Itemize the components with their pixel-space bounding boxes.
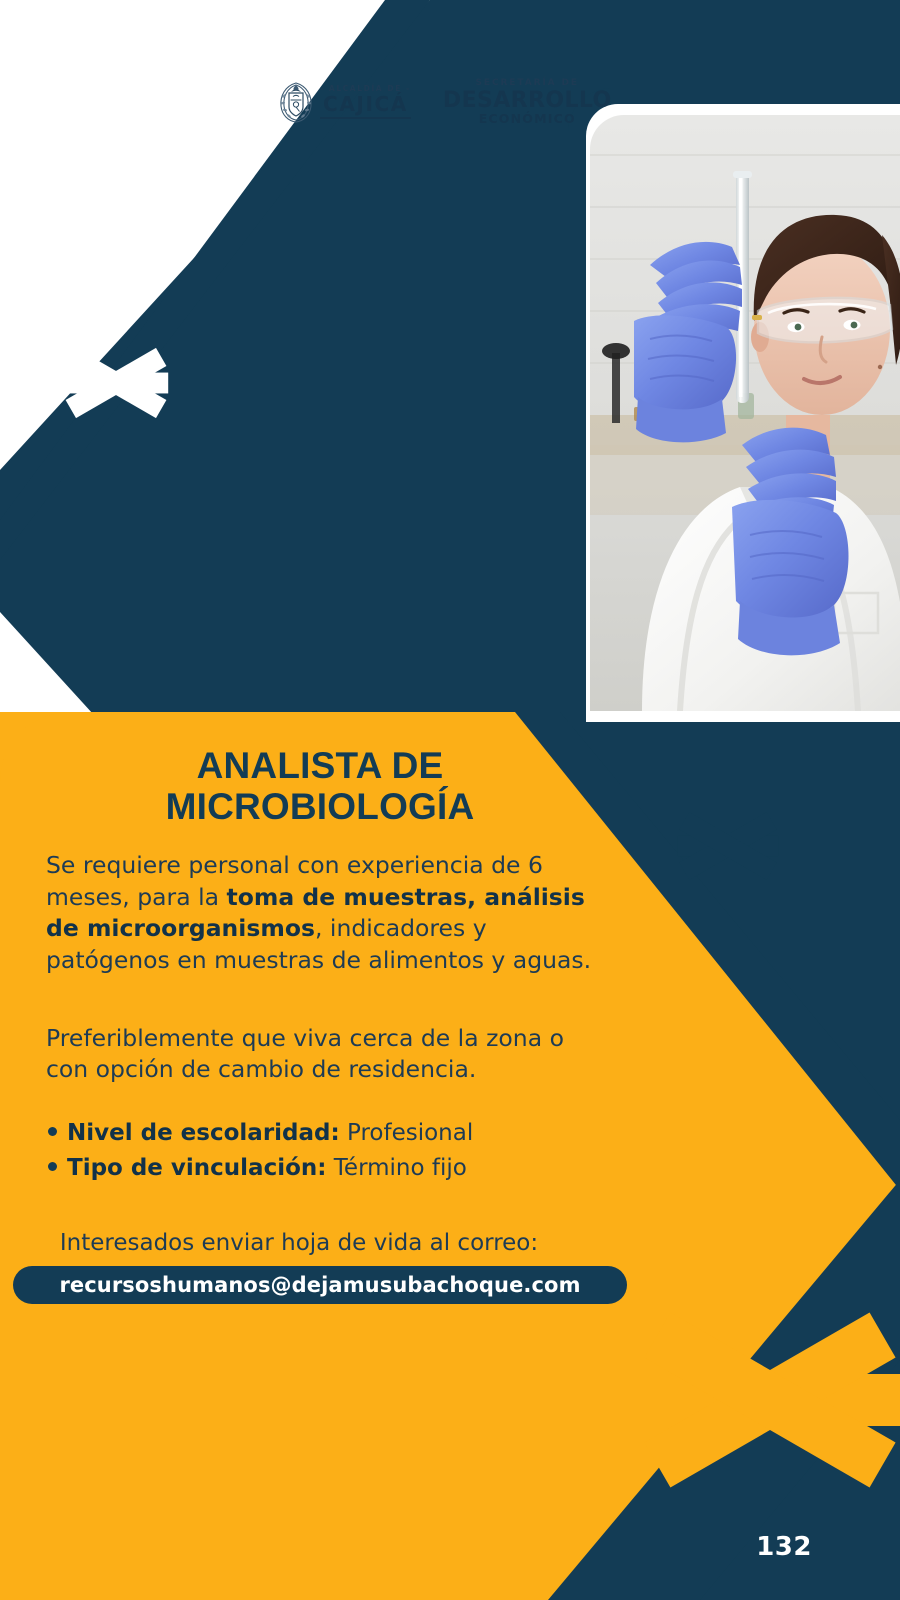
page-number: 132 — [756, 1532, 812, 1562]
asterisk-icon-large — [0, 0, 900, 1600]
poster-root: - ALCALDÍA DE - CAJICÁ SECRETARÍA DE DES… — [0, 0, 900, 1600]
